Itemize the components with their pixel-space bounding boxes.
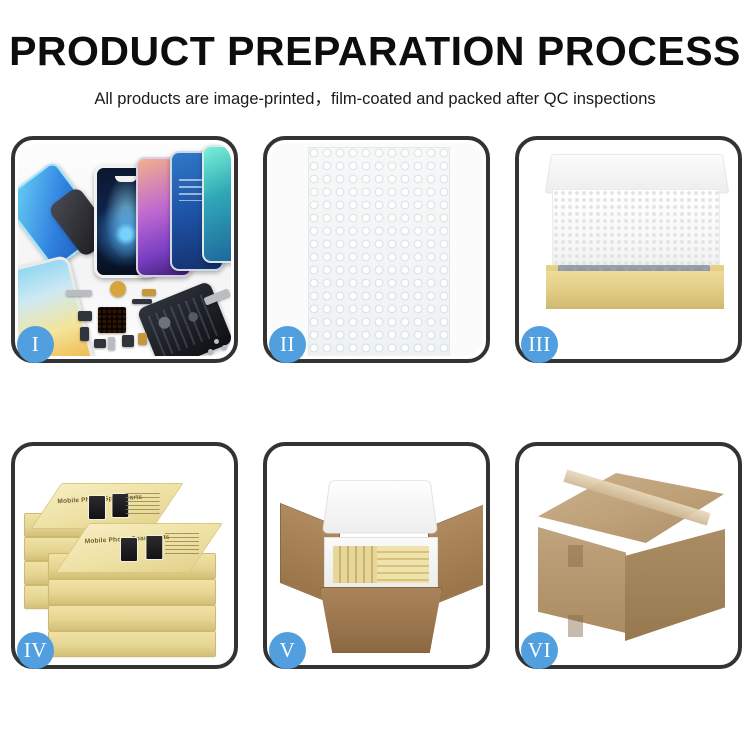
page-header: PRODUCT PREPARATION PROCESS All products… xyxy=(0,0,750,109)
step-panel-iii[interactable]: III xyxy=(515,136,742,363)
carton-right-face xyxy=(625,529,725,641)
stacked-box-front-2 xyxy=(48,579,216,605)
process-steps-grid: I II II xyxy=(11,136,739,669)
packed-boxes-row-right xyxy=(377,546,429,583)
box-product-photo-rear-1 xyxy=(88,495,106,520)
carton-front-wall xyxy=(320,587,442,653)
step-image-iv: Mobile Phone Spare Parts Mobile Phone Sp… xyxy=(18,449,231,662)
box-spec-lines-rear xyxy=(126,493,160,517)
styrofoam-box xyxy=(324,537,438,591)
part-gold-contact xyxy=(138,333,147,345)
step-image-ii xyxy=(270,143,483,356)
part-screw-2 xyxy=(222,345,227,350)
stacked-box-front-3 xyxy=(48,605,216,631)
carton-notch-bottom xyxy=(568,615,583,637)
part-screw-3 xyxy=(208,349,213,354)
page-subtitle: All products are image-printed，film-coat… xyxy=(0,85,750,109)
part-chip-array xyxy=(98,307,126,333)
carton-notch-top xyxy=(568,545,583,567)
step-badge-vi: VI xyxy=(521,632,558,669)
sealed-carton-illustration xyxy=(522,449,735,662)
open-carton-illustration xyxy=(270,449,483,662)
step-badge-iv: IV xyxy=(17,632,54,669)
tray-box-lid xyxy=(545,154,730,194)
part-gold-flex xyxy=(142,289,156,296)
step-panel-vi[interactable]: VI xyxy=(515,442,742,669)
bubble-wrap-illustration xyxy=(270,143,483,356)
box-product-photo-front-1 xyxy=(120,537,138,562)
part-antenna-strip xyxy=(66,290,92,296)
box-stack-illustration: Mobile Phone Spare Parts Mobile Phone Sp… xyxy=(18,449,231,662)
step-badge-ii: II xyxy=(269,326,306,363)
part-connector-a xyxy=(78,311,92,321)
part-camera-module xyxy=(122,335,134,347)
part-button-flex xyxy=(132,299,152,304)
step-badge-iii: III xyxy=(521,326,558,363)
step-panel-iv[interactable]: Mobile Phone Spare Parts Mobile Phone Sp… xyxy=(11,442,238,669)
step-badge-v: V xyxy=(269,632,306,669)
box-product-photo-front-2 xyxy=(145,535,163,560)
part-speaker-mesh xyxy=(110,281,126,297)
part-screw-post xyxy=(108,337,115,350)
tray-front-panel xyxy=(546,271,724,309)
step-image-vi xyxy=(522,449,735,662)
protective-foam-sheet xyxy=(552,189,720,273)
step-image-i xyxy=(18,143,231,356)
stacked-box-front-4 xyxy=(48,631,216,657)
step-panel-i[interactable]: I xyxy=(11,136,238,363)
part-connector-b xyxy=(80,327,89,341)
phone-teal-curved xyxy=(202,145,231,263)
part-screw-1 xyxy=(214,339,219,344)
step-panel-ii[interactable]: II xyxy=(263,136,490,363)
step-badge-i: I xyxy=(17,326,54,363)
phone-parts-illustration xyxy=(18,143,231,356)
step-panel-v[interactable]: V xyxy=(263,442,490,669)
page-title: PRODUCT PREPARATION PROCESS xyxy=(0,30,750,73)
step-image-iii xyxy=(522,143,735,356)
step-image-v xyxy=(270,449,483,662)
tray-box-illustration xyxy=(522,143,735,356)
part-connector-c xyxy=(94,339,106,348)
styrofoam-lid xyxy=(322,480,438,533)
bubble-wrap-bag xyxy=(308,147,450,356)
box-spec-lines-front xyxy=(165,533,199,557)
